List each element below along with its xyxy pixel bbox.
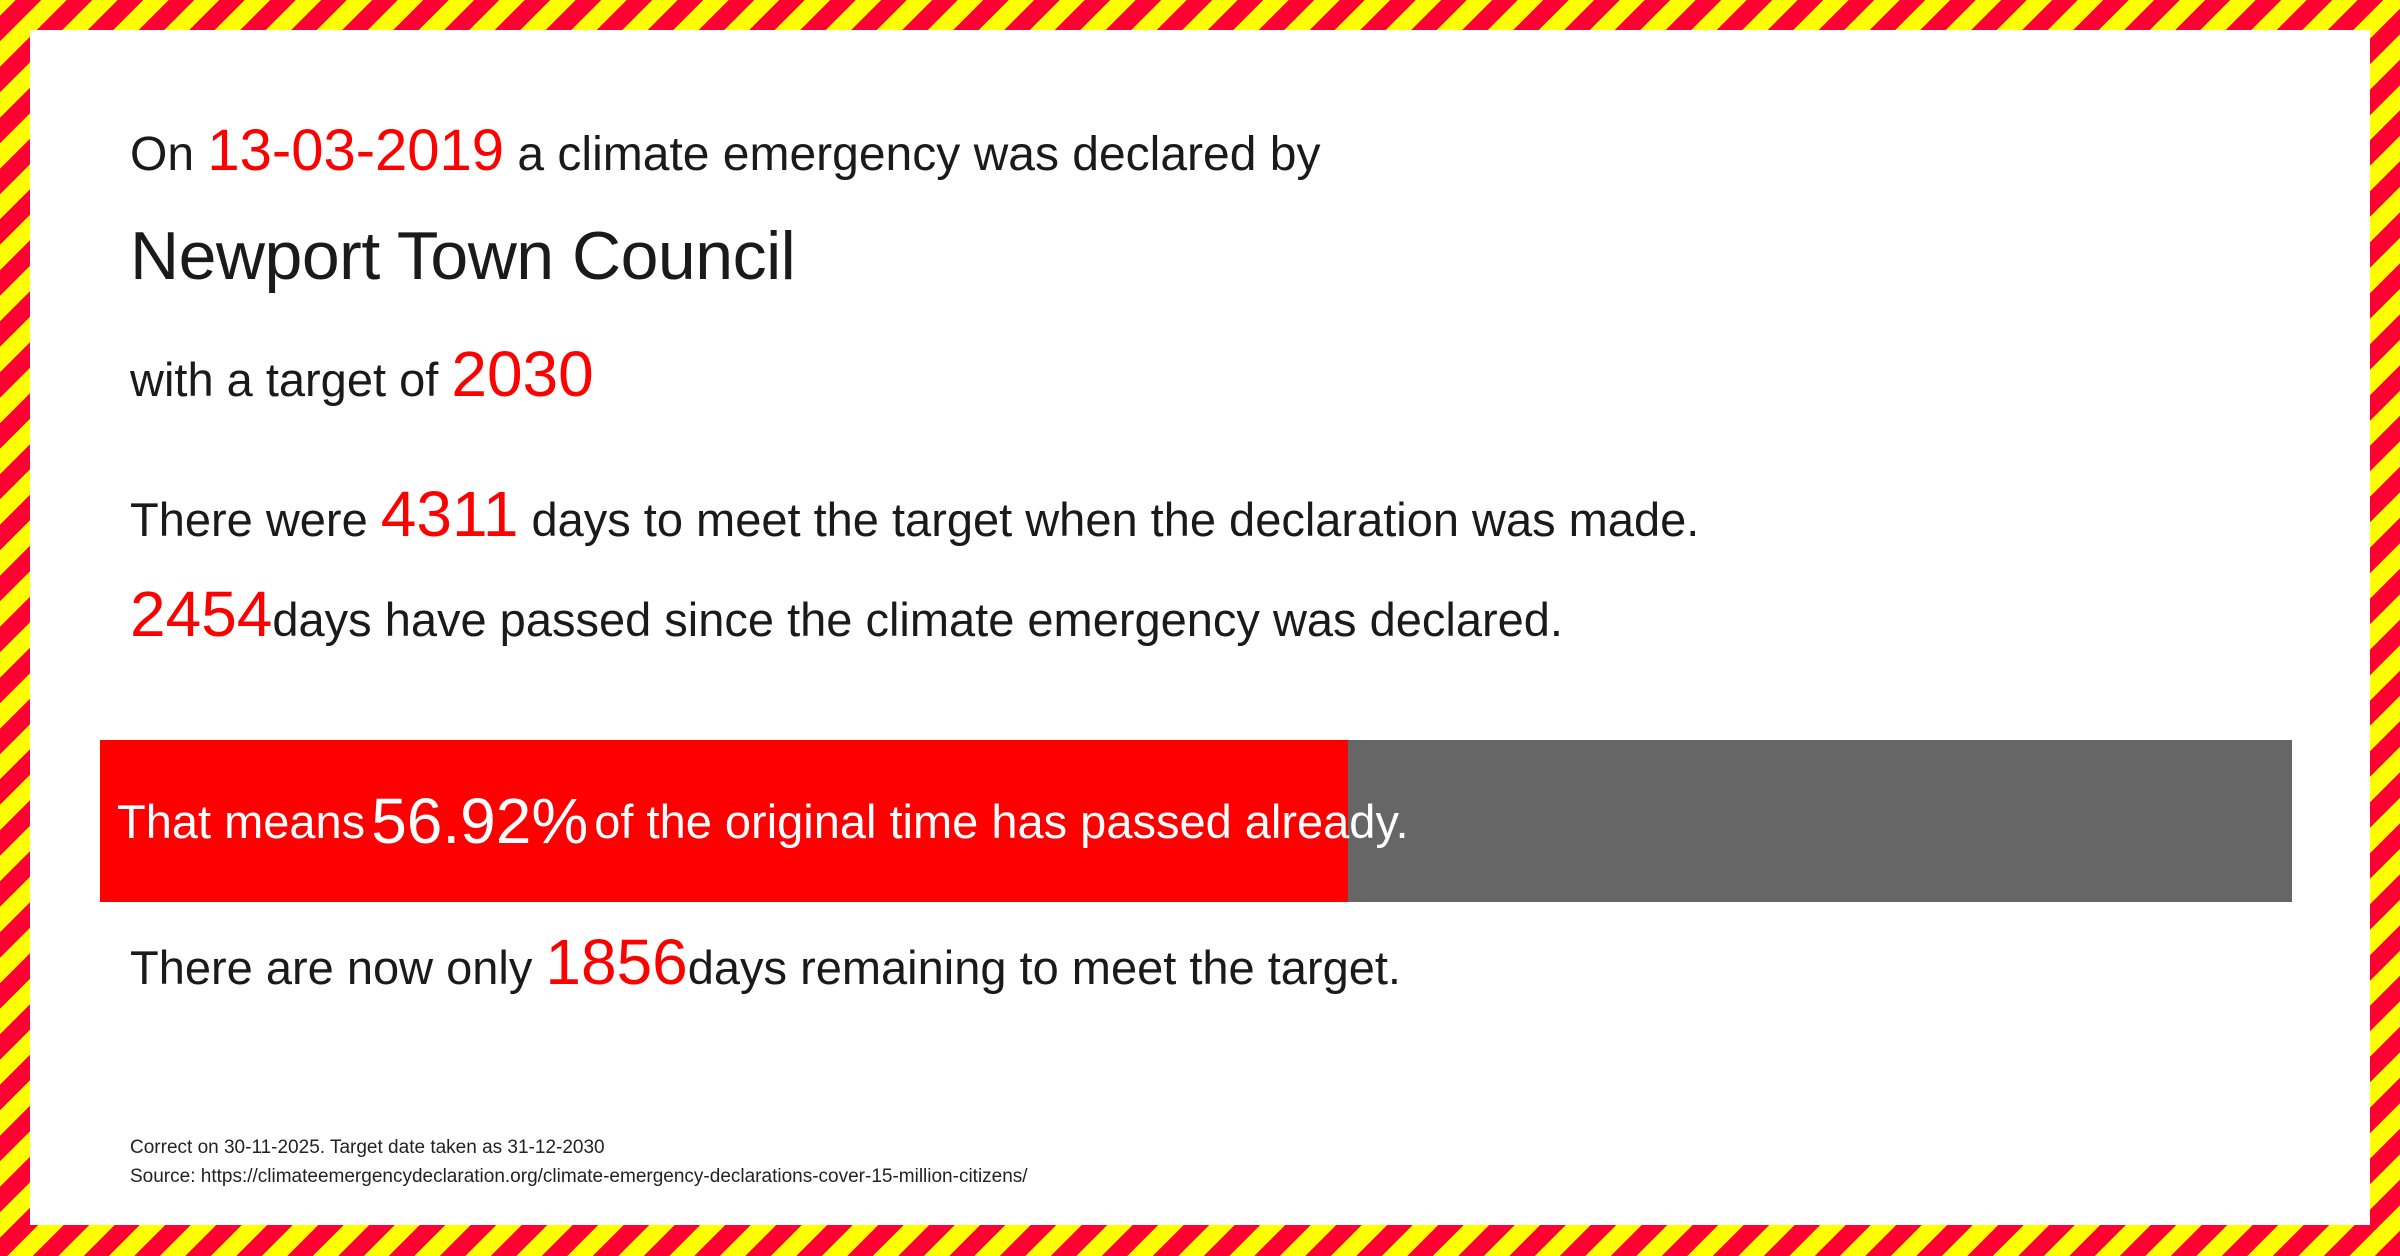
remaining-line: There are now only 1856days remaining to… xyxy=(130,930,1401,994)
original-window-days: 4311 xyxy=(381,478,519,550)
poster-card: On 13-03-2019 a climate emergency was de… xyxy=(30,30,2370,1225)
footnote-correct-on: Correct on 30-11-2025. Target date taken… xyxy=(130,1133,1028,1162)
remaining-suffix: days remaining to meet the target. xyxy=(688,941,1401,994)
original-window-prefix: There were xyxy=(130,493,381,546)
declaration-date: 13-03-2019 xyxy=(207,118,504,183)
elapsed-line: 2454days have passed since the climate e… xyxy=(130,582,1563,646)
target-prefix: with a target of xyxy=(130,353,451,406)
progress-suffix: of the original time has passed already. xyxy=(594,794,1408,849)
elapsed-suffix: days have passed since the climate emerg… xyxy=(272,593,1563,646)
declaration-prefix: On xyxy=(130,128,207,181)
footnote: Correct on 30-11-2025. Target date taken… xyxy=(130,1133,1028,1192)
progress-prefix: That means xyxy=(117,794,365,849)
remaining-prefix: There are now only xyxy=(130,941,545,994)
remaining-days: 1856 xyxy=(545,926,687,998)
hazard-poster: On 13-03-2019 a climate emergency was de… xyxy=(0,0,2400,1256)
time-progress-label: That means 56.92% of the original time h… xyxy=(117,740,1409,902)
target-line: with a target of 2030 xyxy=(130,342,594,406)
progress-percent: 56.92% xyxy=(365,784,594,858)
original-window-line: There were 4311 days to meet the target … xyxy=(130,482,1699,546)
declaration-suffix: a climate emergency was declared by xyxy=(504,128,1320,181)
time-progress-bar: That means 56.92% of the original time h… xyxy=(100,740,2292,902)
elapsed-days: 2454 xyxy=(130,578,272,650)
target-year: 2030 xyxy=(451,338,593,410)
declaring-authority: Newport Town Council xyxy=(130,222,795,290)
declaration-line: On 13-03-2019 a climate emergency was de… xyxy=(130,122,1320,180)
original-window-suffix: days to meet the target when the declara… xyxy=(518,493,1699,546)
footnote-source: Source: https://climateemergencydeclarat… xyxy=(130,1162,1028,1191)
